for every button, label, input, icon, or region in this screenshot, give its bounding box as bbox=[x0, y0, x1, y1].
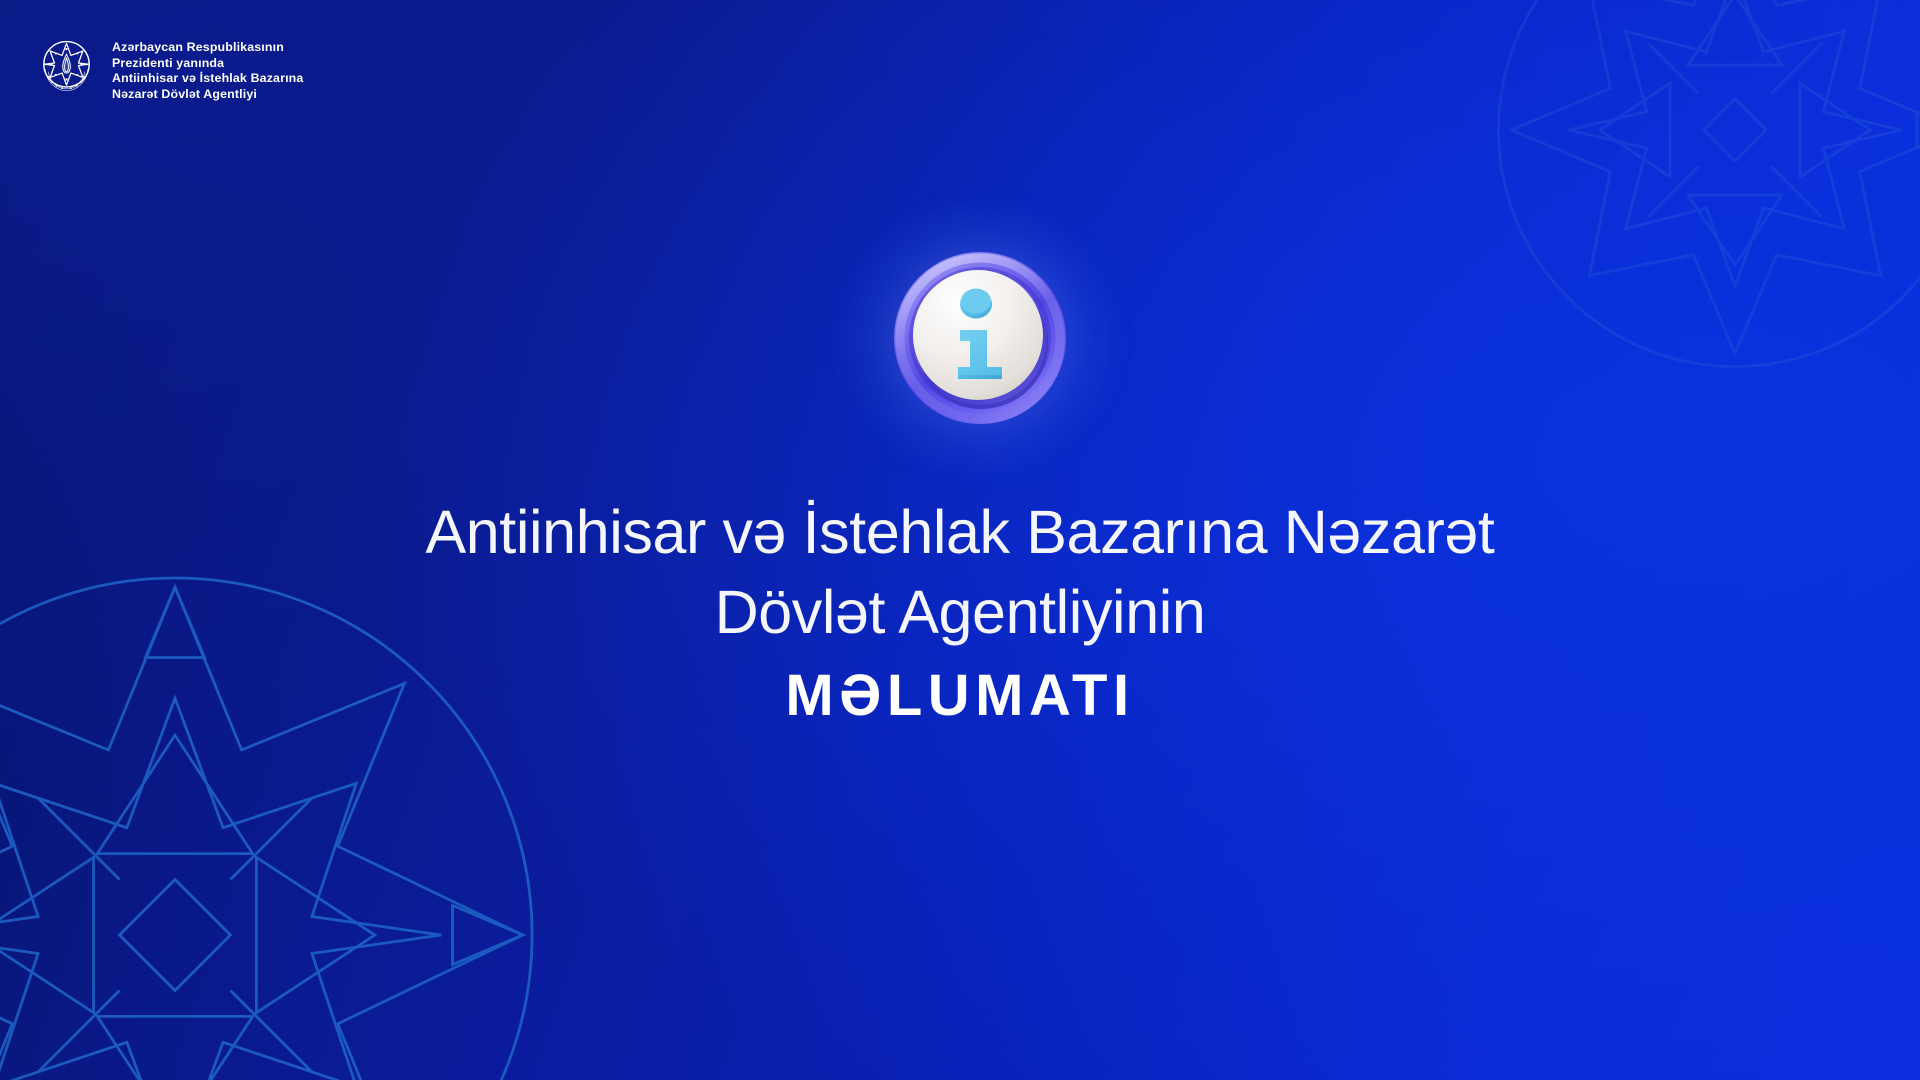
organization-name-block: Azərbaycan Respublikasının Prezidenti ya… bbox=[112, 31, 303, 102]
title-line-2: Dövlət Agentliyinin bbox=[0, 572, 1920, 652]
org-line-2: Prezidenti yanında bbox=[112, 56, 303, 72]
org-line-3: Antiinhisar və İstehlak Bazarına bbox=[112, 71, 303, 87]
organization-logo-lockup: Azərbaycan Respublikasının Prezidenti ya… bbox=[35, 31, 303, 102]
title-emphasis: MƏLUMATI bbox=[0, 660, 1920, 732]
org-line-1: Azərbaycan Respublikasının bbox=[112, 40, 303, 56]
slide-canvas: Azərbaycan Respublikasının Prezidenti ya… bbox=[0, 0, 1920, 1080]
page-title: Antiinhisar və İstehlak Bazarına Nəzarət… bbox=[0, 492, 1920, 732]
information-3d-icon bbox=[890, 248, 1070, 428]
org-line-4: Nəzarət Dövlət Agentliyi bbox=[112, 87, 303, 103]
azerbaijan-state-emblem-icon bbox=[35, 34, 98, 97]
title-line-1: Antiinhisar və İstehlak Bazarına Nəzarət bbox=[0, 492, 1920, 572]
ornament-top-right bbox=[1455, 0, 1920, 390]
